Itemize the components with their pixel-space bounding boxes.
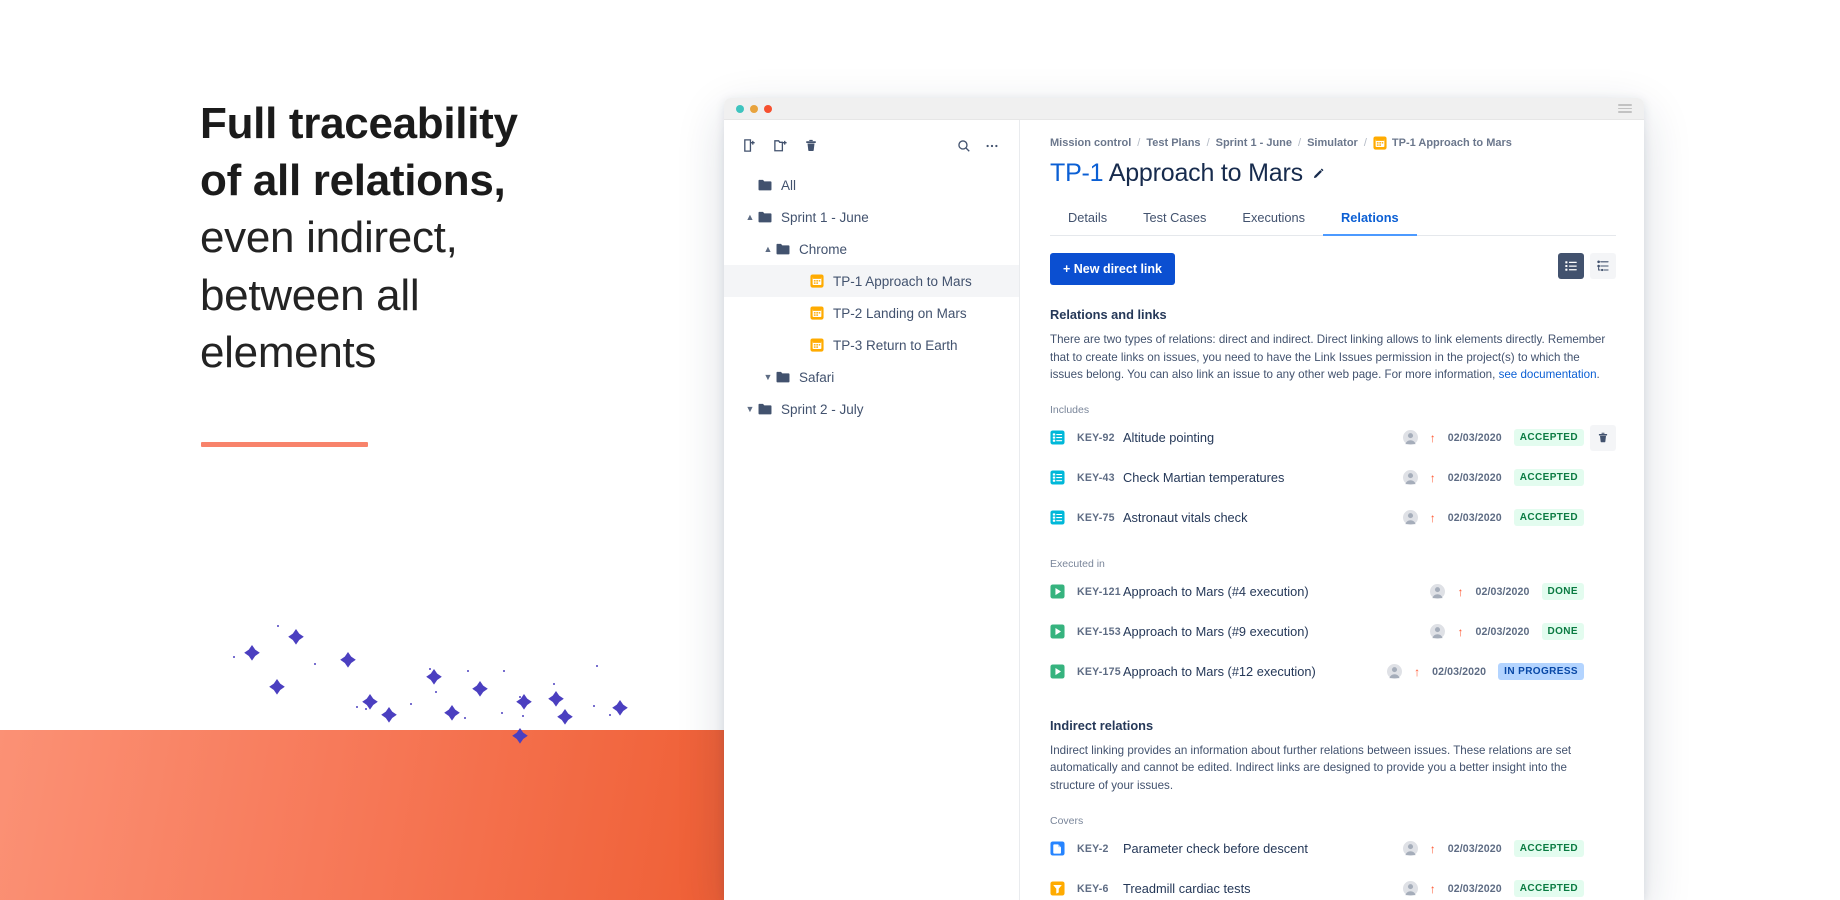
breadcrumb-separator: / xyxy=(1364,137,1367,149)
breadcrumb-item[interactable]: Simulator xyxy=(1307,137,1358,149)
relations-para-tail: . xyxy=(1597,368,1600,381)
promo-headline: Full traceability of all relations, even… xyxy=(200,95,670,381)
relation-name[interactable]: Approach to Mars (#12 execution) xyxy=(1123,664,1372,679)
tree-item[interactable]: ▼Safari xyxy=(724,361,1019,393)
tree-item-label: TP-1 Approach to Mars xyxy=(833,274,972,289)
maximize-light-icon[interactable] xyxy=(764,105,772,113)
new-file-icon[interactable] xyxy=(742,138,757,153)
headline-line-3: even indirect, xyxy=(200,209,670,266)
breadcrumb-current[interactable]: TP-1 Approach to Mars xyxy=(1373,136,1512,150)
relation-row[interactable]: KEY-175Approach to Mars (#12 execution)↑… xyxy=(1050,652,1616,692)
test-plan-icon xyxy=(1373,136,1387,150)
more-options-icon[interactable] xyxy=(985,139,999,153)
relation-date: 02/03/2020 xyxy=(1448,512,1502,524)
relation-name[interactable]: Approach to Mars (#4 execution) xyxy=(1123,584,1372,599)
status-badge: ACCEPTED xyxy=(1514,469,1584,486)
priority-icon: ↑ xyxy=(1430,432,1436,444)
page-title: TP-1 Approach to Mars xyxy=(1050,159,1616,188)
relation-meta: ↑02/03/2020ACCEPTED xyxy=(1372,469,1584,486)
main-content: Mission control/Test Plans/Sprint 1 - Ju… xyxy=(1020,120,1644,900)
direct-relations-list: IncludesKEY-92Altitude pointing↑02/03/20… xyxy=(1050,404,1616,692)
story-icon xyxy=(1050,841,1066,857)
relation-group-label: Covers xyxy=(1050,815,1616,827)
sidebar-toolbar xyxy=(724,130,1019,167)
avatar[interactable] xyxy=(1430,624,1445,639)
relations-section-title: Relations and links xyxy=(1050,307,1616,322)
relation-group-label: Executed in xyxy=(1050,558,1616,570)
avatar[interactable] xyxy=(1403,430,1418,445)
tree-item-label: Chrome xyxy=(799,242,847,257)
trash-icon[interactable] xyxy=(804,139,818,153)
tree-view-icon[interactable] xyxy=(1590,253,1616,279)
indirect-section-title: Indirect relations xyxy=(1050,718,1616,733)
tree-item[interactable]: TP-2 Landing on Mars xyxy=(724,297,1019,329)
relation-row[interactable]: KEY-75Astronaut vitals check↑02/03/2020A… xyxy=(1050,498,1616,538)
breadcrumb-item[interactable]: Mission control xyxy=(1050,137,1131,149)
breadcrumb-separator: / xyxy=(1298,137,1301,149)
relation-meta: ↑02/03/2020DONE xyxy=(1372,623,1584,640)
documentation-link[interactable]: see documentation xyxy=(1499,368,1597,381)
hamburger-icon[interactable] xyxy=(1618,104,1632,113)
promo-panel: Full traceability of all relations, even… xyxy=(0,0,724,900)
headline-line-1: Full traceability xyxy=(200,95,670,152)
test-case-icon xyxy=(1050,470,1066,486)
relation-date: 02/03/2020 xyxy=(1448,883,1502,895)
tree-item[interactable]: ▲Chrome xyxy=(724,233,1019,265)
tab-bar: DetailsTest CasesExecutionsRelations xyxy=(1050,202,1616,236)
relation-key: KEY-92 xyxy=(1077,432,1123,444)
avatar[interactable] xyxy=(1403,841,1418,856)
actions-row: + New direct link xyxy=(1050,253,1616,285)
headline-line-4: between all xyxy=(200,267,670,324)
relation-date: 02/03/2020 xyxy=(1475,586,1529,598)
chevron-icon[interactable]: ▲ xyxy=(742,212,758,222)
requirement-icon xyxy=(1050,881,1066,897)
relation-group-label: Includes xyxy=(1050,404,1616,416)
window-controls[interactable] xyxy=(736,105,772,113)
priority-icon: ↑ xyxy=(1430,472,1436,484)
relation-name[interactable]: Approach to Mars (#9 execution) xyxy=(1123,624,1372,639)
test-plan-icon xyxy=(810,338,824,352)
test-case-icon xyxy=(1050,510,1066,526)
relation-key: KEY-75 xyxy=(1077,512,1123,524)
relation-name[interactable]: Altitude pointing xyxy=(1123,430,1372,445)
execution-icon xyxy=(1050,664,1066,680)
window-body: All▲Sprint 1 - June▲ChromeTP-1 Approach … xyxy=(724,120,1644,900)
tree-item[interactable]: TP-1 Approach to Mars xyxy=(724,265,1019,297)
relation-date: 02/03/2020 xyxy=(1448,472,1502,484)
close-light-icon[interactable] xyxy=(736,105,744,113)
status-badge: ACCEPTED xyxy=(1514,880,1584,897)
sidebar: All▲Sprint 1 - June▲ChromeTP-1 Approach … xyxy=(724,120,1020,900)
relation-meta: ↑02/03/2020ACCEPTED xyxy=(1372,880,1584,897)
avatar[interactable] xyxy=(1403,881,1418,896)
issue-key: TP-1 xyxy=(1050,159,1103,187)
relation-date: 02/03/2020 xyxy=(1475,626,1529,638)
new-direct-link-button[interactable]: + New direct link xyxy=(1050,253,1175,285)
chevron-icon[interactable]: ▼ xyxy=(742,404,758,414)
pencil-icon[interactable] xyxy=(1312,167,1325,180)
status-badge: DONE xyxy=(1542,623,1585,640)
priority-icon: ↑ xyxy=(1430,843,1436,855)
indirect-section-paragraph: Indirect linking provides an information… xyxy=(1050,742,1610,795)
folder-icon xyxy=(758,403,772,416)
accent-rule xyxy=(201,442,368,447)
priority-icon: ↑ xyxy=(1414,666,1420,678)
status-badge: DONE xyxy=(1542,583,1585,600)
project-tree: All▲Sprint 1 - June▲ChromeTP-1 Approach … xyxy=(724,167,1019,425)
relation-key: KEY-153 xyxy=(1077,626,1123,638)
relation-key: KEY-2 xyxy=(1077,843,1123,855)
tree-item-label: All xyxy=(781,178,796,193)
tree-item[interactable]: All xyxy=(724,169,1019,201)
priority-icon: ↑ xyxy=(1457,586,1463,598)
relation-key: KEY-175 xyxy=(1077,666,1123,678)
tab-details[interactable]: Details xyxy=(1050,202,1125,236)
status-badge: ACCEPTED xyxy=(1514,429,1584,446)
relation-date: 02/03/2020 xyxy=(1448,843,1502,855)
priority-icon: ↑ xyxy=(1430,512,1436,524)
indirect-relations-list: CoversKEY-2Parameter check before descen… xyxy=(1050,815,1616,900)
priority-icon: ↑ xyxy=(1430,883,1436,895)
relation-row[interactable]: KEY-2Parameter check before descent↑02/0… xyxy=(1050,829,1616,869)
avatar[interactable] xyxy=(1387,664,1402,679)
relation-meta: ↑02/03/2020ACCEPTED xyxy=(1372,509,1584,526)
folder-icon xyxy=(776,371,790,384)
relation-meta: ↑02/03/2020ACCEPTED xyxy=(1372,840,1584,857)
search-icon[interactable] xyxy=(957,139,971,153)
tab-test-cases[interactable]: Test Cases xyxy=(1125,202,1224,236)
list-view-icon[interactable] xyxy=(1558,253,1584,279)
minimize-light-icon[interactable] xyxy=(750,105,758,113)
issue-summary: Approach to Mars xyxy=(1109,159,1303,187)
execution-icon xyxy=(1050,624,1066,640)
relation-name[interactable]: Check Martian temperatures xyxy=(1123,470,1372,485)
tree-item[interactable]: ▼Sprint 2 - July xyxy=(724,393,1019,425)
view-toggle-group xyxy=(1558,253,1616,279)
breadcrumb-separator: / xyxy=(1207,137,1210,149)
delete-relation-icon[interactable] xyxy=(1590,425,1616,451)
relation-date: 02/03/2020 xyxy=(1432,666,1486,678)
relation-meta: ↑02/03/2020ACCEPTED xyxy=(1372,429,1584,446)
tree-item-label: Safari xyxy=(799,370,834,385)
status-badge: ACCEPTED xyxy=(1514,840,1584,857)
relation-key: KEY-6 xyxy=(1077,883,1123,895)
window-titlebar xyxy=(724,98,1644,120)
folder-icon xyxy=(758,179,772,192)
relation-key: KEY-121 xyxy=(1077,586,1123,598)
status-badge: IN PROGRESS xyxy=(1498,663,1584,680)
test-case-icon xyxy=(1050,430,1066,446)
breadcrumb: Mission control/Test Plans/Sprint 1 - Ju… xyxy=(1050,134,1616,152)
tree-item[interactable]: ▲Sprint 1 - June xyxy=(724,201,1019,233)
avatar[interactable] xyxy=(1430,584,1445,599)
tree-item-label: TP-2 Landing on Mars xyxy=(833,306,967,321)
breadcrumb-item[interactable]: Sprint 1 - June xyxy=(1216,137,1292,149)
avatar[interactable] xyxy=(1403,470,1418,485)
chevron-icon[interactable]: ▼ xyxy=(760,372,776,382)
headline-line-2: of all relations, xyxy=(200,152,670,209)
relation-meta: ↑02/03/2020DONE xyxy=(1372,583,1584,600)
relation-meta: ↑02/03/2020IN PROGRESS xyxy=(1372,663,1584,680)
tab-executions[interactable]: Executions xyxy=(1224,202,1323,236)
tree-item-label: Sprint 2 - July xyxy=(781,402,864,417)
tree-item-label: Sprint 1 - June xyxy=(781,210,869,225)
relation-row[interactable]: KEY-92Altitude pointing↑02/03/2020ACCEPT… xyxy=(1050,418,1616,458)
folder-icon xyxy=(758,211,772,224)
execution-icon xyxy=(1050,584,1066,600)
relation-row[interactable]: KEY-153Approach to Mars (#9 execution)↑0… xyxy=(1050,612,1616,652)
page-title-text: TP-1 Approach to Mars xyxy=(1050,159,1303,188)
app-window: All▲Sprint 1 - June▲ChromeTP-1 Approach … xyxy=(724,98,1644,900)
test-plan-icon xyxy=(810,306,824,320)
relation-name[interactable]: Parameter check before descent xyxy=(1123,841,1372,856)
relation-row[interactable]: KEY-43Check Martian temperatures↑02/03/2… xyxy=(1050,458,1616,498)
priority-icon: ↑ xyxy=(1457,626,1463,638)
test-plan-icon xyxy=(810,274,824,288)
page-root: Full traceability of all relations, even… xyxy=(0,0,1840,900)
tab-relations[interactable]: Relations xyxy=(1323,202,1417,236)
tree-item-label: TP-3 Return to Earth xyxy=(833,338,958,353)
relation-date: 02/03/2020 xyxy=(1448,432,1502,444)
relation-key: KEY-43 xyxy=(1077,472,1123,484)
status-badge: ACCEPTED xyxy=(1514,509,1584,526)
relation-name[interactable]: Treadmill cardiac tests xyxy=(1123,881,1372,896)
folder-icon xyxy=(776,243,790,256)
breadcrumb-separator: / xyxy=(1137,137,1140,149)
relation-row[interactable]: KEY-6Treadmill cardiac tests↑02/03/2020A… xyxy=(1050,869,1616,900)
chevron-icon[interactable]: ▲ xyxy=(760,244,776,254)
avatar[interactable] xyxy=(1403,510,1418,525)
relations-section-paragraph: There are two types of relations: direct… xyxy=(1050,331,1610,384)
relation-row[interactable]: KEY-121Approach to Mars (#4 execution)↑0… xyxy=(1050,572,1616,612)
headline-line-5: elements xyxy=(200,324,670,381)
breadcrumb-item[interactable]: Test Plans xyxy=(1146,137,1200,149)
new-folder-icon[interactable] xyxy=(773,138,788,153)
relation-name[interactable]: Astronaut vitals check xyxy=(1123,510,1372,525)
breadcrumb-current-label: TP-1 Approach to Mars xyxy=(1392,137,1512,149)
tree-item[interactable]: TP-3 Return to Earth xyxy=(724,329,1019,361)
